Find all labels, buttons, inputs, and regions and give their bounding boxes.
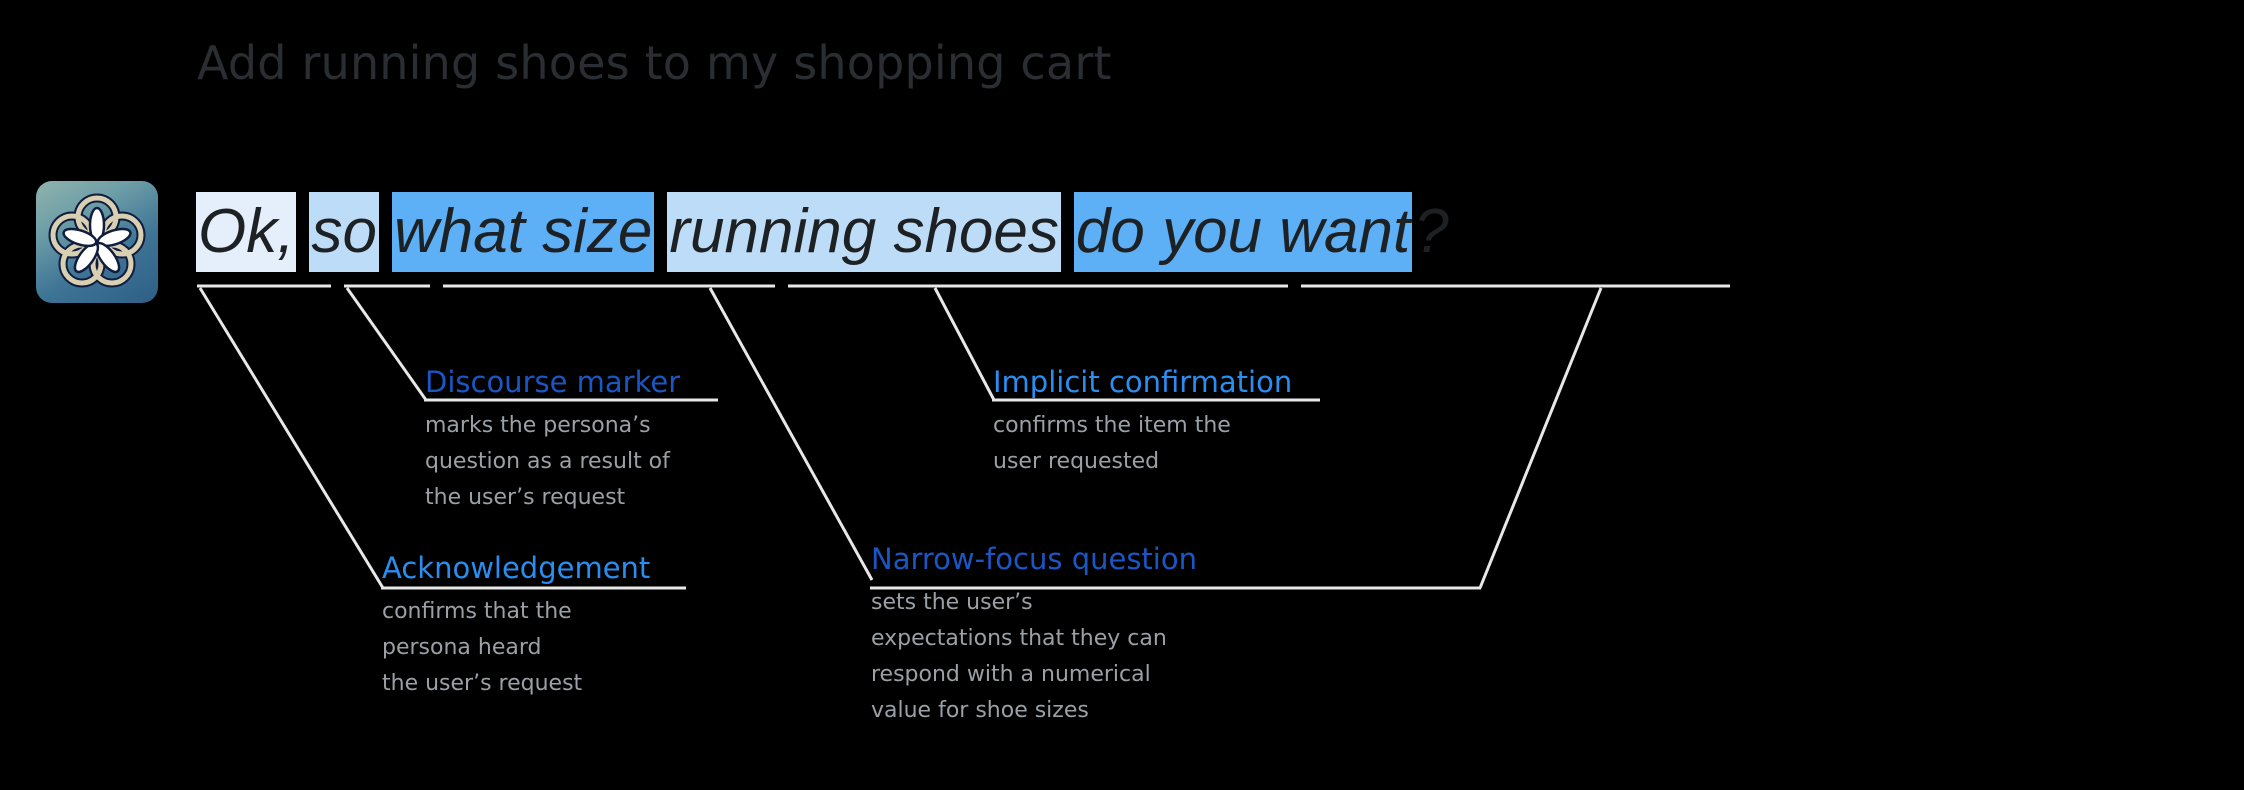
utterance-segment-do-you-want[interactable]: do you want [1074,192,1412,272]
annotation-heading: Narrow-focus question [871,542,1197,576]
annotation-heading: Acknowledgement [382,551,650,585]
segment-gap [1061,192,1074,272]
annotation-implicit-confirmation: Implicit confirmation confirms the item … [993,365,1292,480]
annotation-narrow-focus-question: Narrow-focus question sets the user’s ex… [871,542,1197,729]
persona-avatar [36,181,158,303]
utterance-segment-running-shoes[interactable]: running shoes [667,192,1061,272]
annotation-heading: Discourse marker [425,365,680,399]
segment-gap [654,192,667,272]
annotation-body: marks the persona’s question as a result… [425,408,680,516]
persona-utterance: Ok, so what size running shoes do you wa… [196,192,1451,272]
utterance-segment-so[interactable]: so [309,192,378,272]
annotation-body: sets the user’s expectations that they c… [871,585,1197,729]
connector-running-shoes-to-implicit [935,288,994,400]
connector-do-you-want-to-narrow [1480,288,1601,588]
utterance-segment-what-size[interactable]: what size [392,192,654,272]
annotation-body: confirms that the persona heard the user… [382,594,650,702]
utterance-segment-ok[interactable]: Ok, [196,192,296,272]
connector-ok-to-acknowledgement [200,288,383,588]
page-title: Add running shoes to my shopping cart [197,36,1112,90]
connector-what-size-to-narrow [710,288,872,580]
utterance-question-mark: ? [1412,192,1450,272]
segment-gap [379,192,392,272]
diagram-canvas: Add running shoes to my shopping cart [0,0,2244,790]
annotation-heading: Implicit confirmation [993,365,1292,399]
connector-so-to-discourse [347,288,426,400]
annotation-body: confirms the item the user requested [993,408,1292,480]
annotation-acknowledgement: Acknowledgement confirms that the person… [382,551,650,702]
segment-gap [296,192,309,272]
annotation-discourse-marker: Discourse marker marks the persona’s que… [425,365,680,516]
flower-rosette-icon [36,181,158,303]
